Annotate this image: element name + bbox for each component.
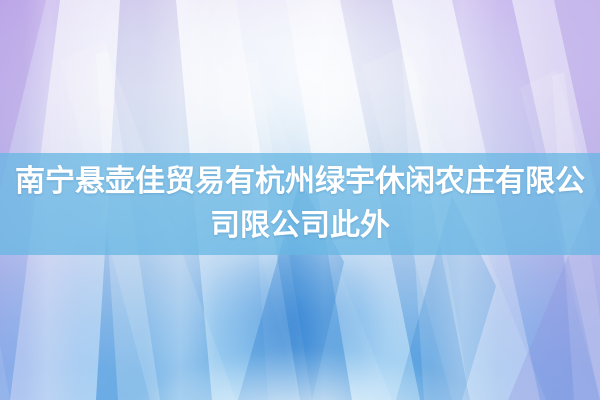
headline-band: 南宁悬壶佳贸易有杭州绿宇休闲农庄有限公司限公司此外 bbox=[0, 153, 600, 255]
banner-image: 南宁悬壶佳贸易有杭州绿宇休闲农庄有限公司限公司此外 bbox=[0, 0, 600, 400]
bottom-highlight-haze bbox=[132, 352, 480, 400]
headline-text: 南宁悬壶佳贸易有杭州绿宇休闲农庄有限公司限公司此外 bbox=[0, 160, 600, 248]
